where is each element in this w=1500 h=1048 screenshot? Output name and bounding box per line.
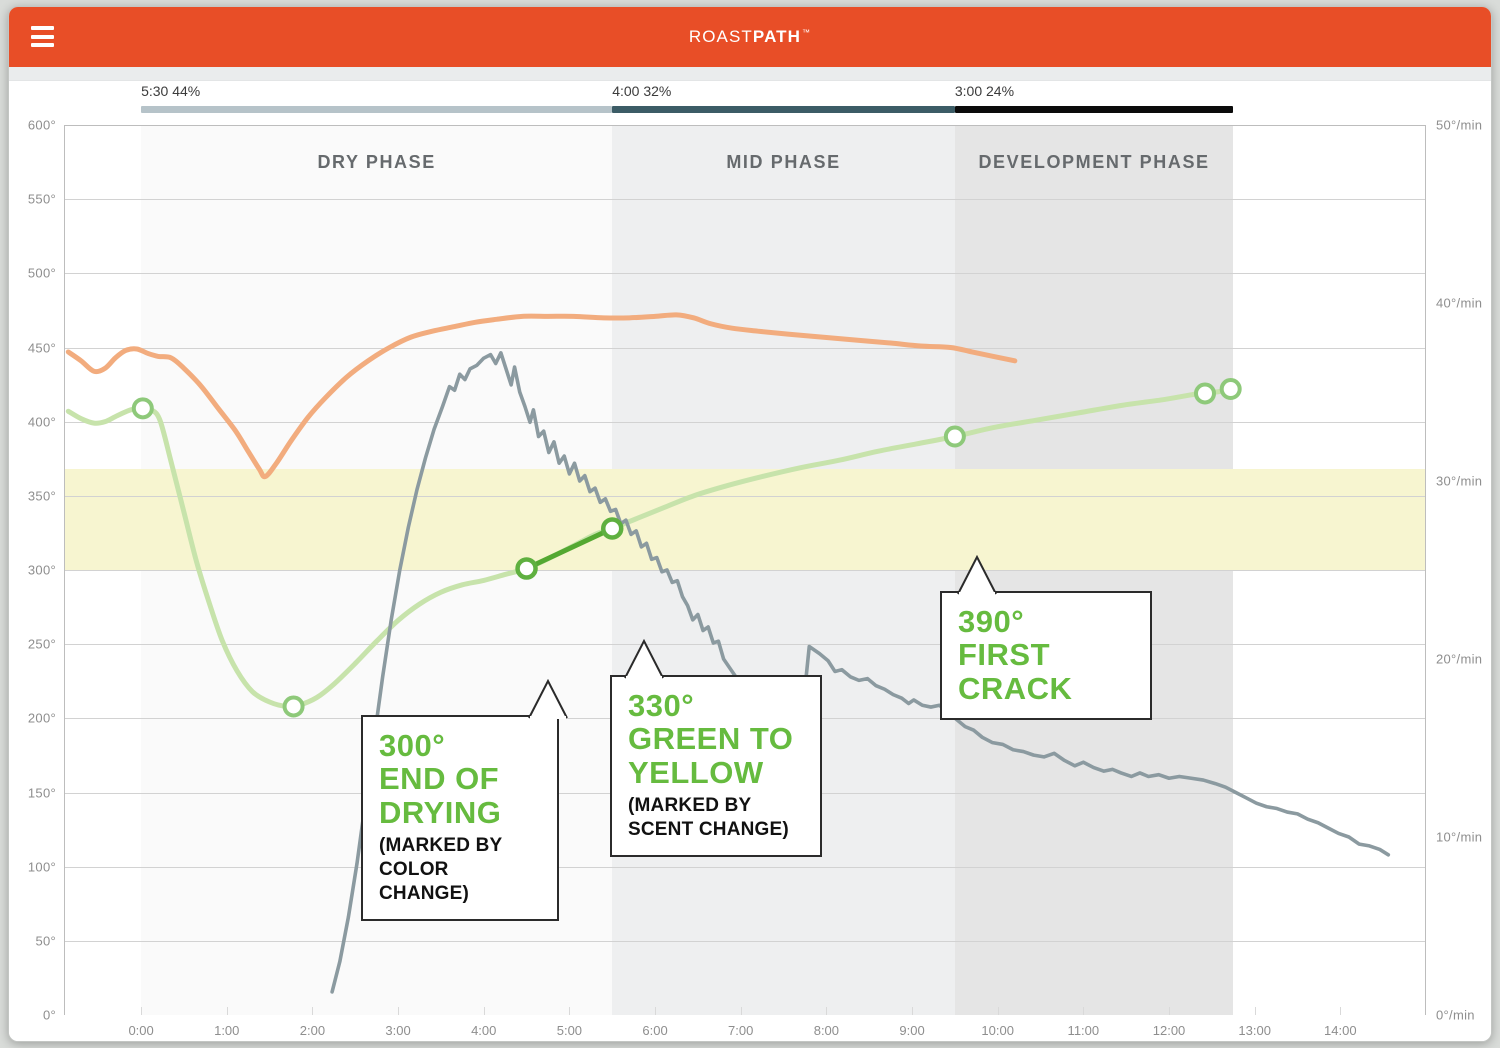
- y-axis-left-tick: 500°: [28, 266, 56, 281]
- x-axis-tick: 1:00: [214, 1023, 239, 1038]
- first-crack-marker[interactable]: [946, 428, 964, 446]
- callout-temperature: 300°: [379, 729, 543, 762]
- x-axis-tick: 12:00: [1153, 1023, 1186, 1038]
- brand-logo: ROASTPATH™: [689, 27, 811, 47]
- phase-bar-track: [612, 106, 955, 113]
- y-axis-left-tick: 150°: [28, 785, 56, 800]
- turning-point-marker[interactable]: [285, 697, 303, 715]
- trademark-symbol: ™: [802, 28, 811, 37]
- drop-marker-b[interactable]: [1222, 380, 1240, 398]
- phase-bar-track: [141, 106, 612, 113]
- y-axis-left-tick: 400°: [28, 414, 56, 429]
- y-axis-right-tick: 10°/min: [1436, 830, 1482, 845]
- callout-green-to-yellow[interactable]: 330°GREEN TO YELLOW(MARKED BY SCENT CHAN…: [610, 675, 822, 857]
- phase-title-dry-phase: DRY PHASE: [141, 150, 612, 174]
- x-axis-tick: 9:00: [899, 1023, 924, 1038]
- series-canvas: [64, 125, 1426, 1015]
- x-axis-tick: 8:00: [814, 1023, 839, 1038]
- phase-summary-bars: 5:30 44%4:00 32%3:00 24%: [9, 81, 1491, 117]
- app-window: ROASTPATH™ 5:30 44%4:00 32%3:00 24% 0°50…: [8, 6, 1492, 1042]
- x-axis-tick: 11:00: [1068, 1023, 1100, 1038]
- app-root: ROASTPATH™ 5:30 44%4:00 32%3:00 24% 0°50…: [0, 0, 1500, 1048]
- roast-chart: 0°50°100°150°200°250°300°350°400°450°500…: [9, 117, 1492, 1042]
- x-axis-tick: 4:00: [471, 1023, 496, 1038]
- phase-bar-2[interactable]: 4:00 32%: [612, 81, 955, 117]
- callout-pointer: [623, 639, 669, 679]
- x-axis-tick: 6:00: [642, 1023, 667, 1038]
- y-axis-left-tick: 0°: [43, 1008, 56, 1023]
- y-axis-left-tick: 550°: [28, 192, 56, 207]
- phase-bar-3[interactable]: 3:00 24%: [955, 81, 1233, 117]
- y-axis-right-tick: 20°/min: [1436, 652, 1482, 667]
- brand-light-text: ROAST: [689, 27, 753, 47]
- hamburger-menu-icon[interactable]: [31, 26, 54, 47]
- callout-title: GREEN TO YELLOW: [628, 722, 806, 789]
- phase-bar-label: 4:00 32%: [612, 83, 671, 99]
- series-line-drying-segment-highlight: [527, 528, 613, 568]
- y-axis-left-tick: 300°: [28, 563, 56, 578]
- callout-first-crack[interactable]: 390°FIRST CRACK: [940, 591, 1152, 720]
- end-of-drying-marker[interactable]: [518, 560, 536, 578]
- callout-temperature: 330°: [628, 689, 806, 722]
- y-axis-left-tick: 100°: [28, 859, 56, 874]
- callout-pointer: [956, 555, 1002, 595]
- phase-bar-label: 5:30 44%: [141, 83, 200, 99]
- x-axis-tick: 10:00: [981, 1023, 1014, 1038]
- sub-header-bar: [9, 67, 1491, 81]
- y-axis-right-tick: 30°/min: [1436, 474, 1482, 489]
- callout-title: FIRST CRACK: [958, 638, 1136, 705]
- phase-bar-track: [955, 106, 1233, 113]
- y-axis-left: 0°50°100°150°200°250°300°350°400°450°500…: [9, 125, 56, 1015]
- x-axis-tick: 5:00: [557, 1023, 582, 1038]
- x-axis-tick: 0:00: [128, 1023, 153, 1038]
- y-axis-right-tick: 0°/min: [1436, 1008, 1475, 1023]
- drop-marker-a[interactable]: [1196, 384, 1214, 402]
- callout-end-of-drying[interactable]: 300°END OF DRYING(MARKED BY COLOR CHANGE…: [361, 715, 559, 921]
- plot-inner: [64, 125, 1426, 1015]
- y-axis-left-tick: 350°: [28, 488, 56, 503]
- phase-title-mid-phase: MID PHASE: [612, 150, 955, 174]
- y-axis-left-tick: 250°: [28, 637, 56, 652]
- phase-bar-label: 3:00 24%: [955, 83, 1014, 99]
- phase-bar-1[interactable]: 5:30 44%: [141, 81, 612, 117]
- callout-subtitle: (MARKED BY COLOR CHANGE): [379, 834, 543, 905]
- y-axis-left-tick: 200°: [28, 711, 56, 726]
- phase-title-development-phase: DEVELOPMENT PHASE: [945, 150, 1243, 174]
- callout-title: END OF DRYING: [379, 762, 543, 829]
- callout-pointer: [527, 679, 573, 719]
- x-axis-tick: 7:00: [728, 1023, 753, 1038]
- y-axis-left-tick: 50°: [35, 933, 56, 948]
- x-axis-tick: 2:00: [300, 1023, 325, 1038]
- start-marker[interactable]: [134, 399, 152, 417]
- green-to-yellow-marker[interactable]: [603, 519, 621, 537]
- y-axis-right-tick: 40°/min: [1436, 296, 1482, 311]
- y-axis-left-tick: 600°: [28, 118, 56, 133]
- plot-area: [64, 125, 1426, 1015]
- x-axis-tick: 13:00: [1238, 1023, 1271, 1038]
- y-axis-right-tick: 50°/min: [1436, 118, 1482, 133]
- callout-subtitle: (MARKED BY SCENT CHANGE): [628, 794, 806, 842]
- y-axis-left-tick: 450°: [28, 340, 56, 355]
- x-axis-tick: 3:00: [385, 1023, 410, 1038]
- callout-temperature: 390°: [958, 605, 1136, 638]
- x-axis-tick: 14:00: [1324, 1023, 1357, 1038]
- app-header: ROASTPATH™: [9, 7, 1491, 67]
- brand-bold-text: PATH: [753, 27, 801, 47]
